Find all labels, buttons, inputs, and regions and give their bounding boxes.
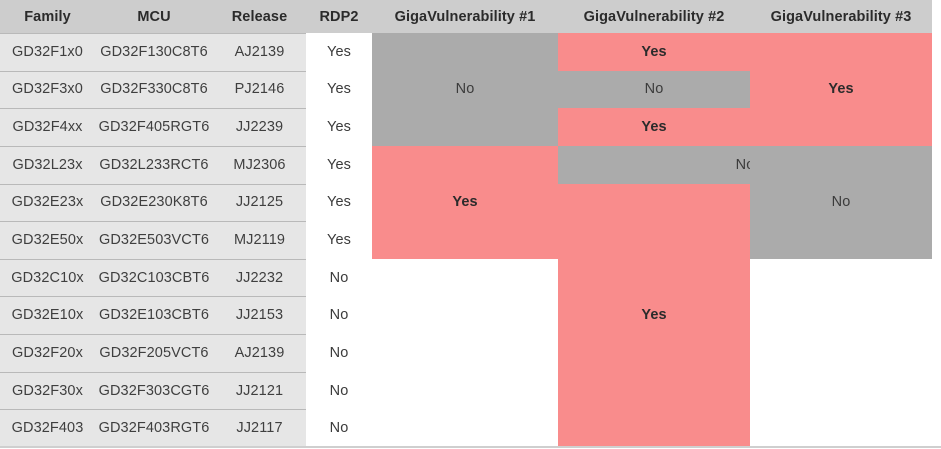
gigadevice-vulnerability-table: Family MCU Release RDP2 GigaVulnerabilit… [0,0,941,449]
cell-release: JJ2232 [213,259,306,297]
cell-family: GD32F30x [0,372,95,410]
cell-mcu: GD32E103CBT6 [95,296,213,334]
cell-release: JJ2117 [213,409,306,447]
cell-rdp2: Yes [306,33,372,71]
row-divider [0,259,306,260]
cell-mcu: GD32F303CGT6 [95,372,213,410]
cell-rdp2: Yes [306,221,372,259]
column-header-gigavulnerability-1: GigaVulnerability #1 [372,0,558,33]
vulnerability-cell-vuln2-5: Yes [558,184,750,447]
cell-family: GD32F20x [0,334,95,372]
cell-mcu: GD32F130C8T6 [95,33,213,71]
cell-release: MJ2306 [213,146,306,184]
vulnerability-cell-vuln1-7 [372,259,558,447]
cell-family: GD32F403 [0,409,95,447]
row-divider [0,409,306,410]
vulnerability-cell-vuln1-4: Yes [372,146,558,259]
cell-release: JJ2121 [213,372,306,410]
vulnerability-cell-vuln2-2: No [558,71,750,109]
cell-release: AJ2139 [213,334,306,372]
cell-family: GD32E50x [0,221,95,259]
cell-rdp2: No [306,259,372,297]
vulnerability-cell-vuln2-3: Yes [558,108,750,146]
vulnerability-cell-vuln3-7 [750,259,932,447]
cell-rdp2: No [306,409,372,447]
cell-release: JJ2153 [213,296,306,334]
row-divider [0,372,306,373]
row-divider [0,146,306,147]
row-divider [0,71,306,72]
cell-family: GD32F4xx [0,108,95,146]
cell-mcu: GD32E503VCT6 [95,221,213,259]
cell-rdp2: No [306,334,372,372]
cell-release: MJ2119 [213,221,306,259]
row-divider [0,184,306,185]
vulnerability-cell-vuln3-1: Yes [750,33,932,146]
cell-family: GD32F3x0 [0,71,95,109]
cell-mcu: GD32L233RCT6 [95,146,213,184]
cell-mcu: GD32E230K8T6 [95,184,213,222]
row-divider [0,221,306,222]
cell-mcu: GD32F405RGT6 [95,108,213,146]
cell-rdp2: No [306,372,372,410]
cell-mcu: GD32F205VCT6 [95,334,213,372]
cell-family: GD32C10x [0,259,95,297]
row-divider [0,108,306,109]
cell-release: JJ2125 [213,184,306,222]
cell-mcu: GD32C103CBT6 [95,259,213,297]
cell-rdp2: Yes [306,108,372,146]
column-header-gigavulnerability-3: GigaVulnerability #3 [750,0,932,33]
cell-family: GD32F1x0 [0,33,95,71]
cell-family: GD32L23x [0,146,95,184]
cell-release: JJ2239 [213,108,306,146]
cell-family: GD32E10x [0,296,95,334]
vulnerability-cell-vuln1-1: No [372,33,558,146]
cell-mcu: GD32F330C8T6 [95,71,213,109]
cell-rdp2: Yes [306,146,372,184]
cell-family: GD32E23x [0,184,95,222]
cell-release: PJ2146 [213,71,306,109]
row-divider [0,334,306,335]
column-header-mcu: MCU [95,0,213,33]
column-header-rdp2: RDP2 [306,0,372,33]
column-header-family: Family [0,0,95,33]
cell-rdp2: Yes [306,184,372,222]
vulnerability-cell-vuln3-4: No [750,146,932,259]
cell-release: AJ2139 [213,33,306,71]
cell-rdp2: No [306,296,372,334]
vulnerability-cell-vuln2-1: Yes [558,33,750,71]
cell-mcu: GD32F403RGT6 [95,409,213,447]
table-bottom-rule [0,446,941,448]
cell-rdp2: Yes [306,71,372,109]
column-header-gigavulnerability-2: GigaVulnerability #2 [558,0,750,33]
row-divider [0,296,306,297]
column-header-release: Release [213,0,306,33]
